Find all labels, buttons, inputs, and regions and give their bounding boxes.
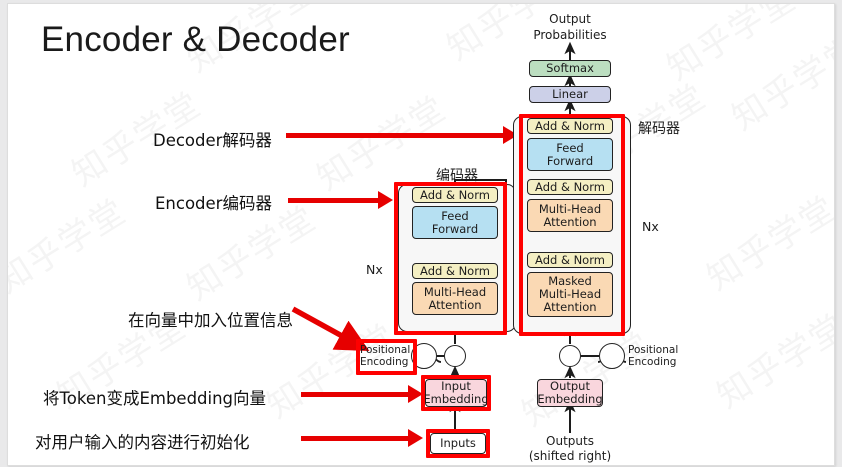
inputs-label: Inputs: [440, 437, 476, 450]
decoder-add-norm-3[interactable]: Add & Norm: [527, 118, 613, 134]
block-label: Masked Multi-Head Attention: [539, 275, 601, 314]
softmax-block[interactable]: Softmax: [529, 60, 611, 77]
decoder-add-norm-2[interactable]: Add & Norm: [527, 179, 613, 195]
encoder-add-norm-1[interactable]: Add & Norm: [412, 263, 498, 279]
slide-canvas: 知乎学堂 知乎学堂 知乎学堂 知乎学堂 知乎学堂 知乎学堂 知乎学堂 知乎学堂 …: [7, 3, 835, 466]
annotation-label-inputs: 对用户输入的内容进行初始化: [35, 429, 250, 453]
block-label: Add & Norm: [535, 254, 605, 267]
annotation-label-encoder: Encoder编码器: [155, 190, 272, 214]
encoder-multi-head-attention[interactable]: Multi-Head Attention: [412, 282, 498, 315]
output-embedding-block[interactable]: Output Embedding: [537, 379, 603, 407]
annotation-label-posenc: 在向量中加入位置信息: [128, 307, 293, 331]
encoder-cn-label: 编码器: [404, 165, 510, 185]
posenc-right-line2: Encoding: [628, 356, 690, 368]
decoder-feed-forward[interactable]: Feed Forward: [527, 138, 613, 171]
inputs-block[interactable]: Inputs: [430, 433, 486, 454]
posenc-left-line2: Encoding: [360, 356, 410, 368]
outputs-label-line1: Outputs: [530, 434, 610, 448]
watermark: 知乎学堂: [7, 185, 134, 303]
decoder-multi-head-attention[interactable]: Multi-Head Attention: [527, 199, 613, 232]
sine-circle-left: [411, 343, 437, 369]
annotation-arrow-encoder: [288, 191, 393, 209]
positional-encoding-right: Positional Encoding: [628, 344, 690, 369]
decoder-add-norm-1[interactable]: Add & Norm: [527, 252, 613, 268]
decoder-nx-label: Nx: [642, 219, 659, 234]
decoder-masked-multi-head-attention[interactable]: Masked Multi-Head Attention: [527, 272, 613, 317]
block-label: Add & Norm: [535, 120, 605, 133]
block-label: Feed Forward: [432, 210, 478, 236]
input-embedding-block[interactable]: Input Embedding: [425, 379, 487, 407]
linear-label: Linear: [552, 88, 588, 101]
posenc-right-line1: Positional: [628, 344, 690, 356]
output-probabilities-line2: Probabilities: [520, 28, 620, 42]
watermark: 知乎学堂: [721, 22, 835, 140]
posenc-left-line1: Positional: [360, 344, 410, 356]
block-label: Output Embedding: [537, 380, 602, 406]
outputs-label-line2: (shifted right): [518, 449, 622, 463]
encoder-nx-label: Nx: [366, 262, 383, 277]
block-label: Input Embedding: [423, 380, 488, 406]
block-label: Add & Norm: [420, 189, 490, 202]
annotation-arrow-posenc: [291, 304, 371, 354]
encoder-add-norm-2[interactable]: Add & Norm: [412, 187, 498, 203]
softmax-label: Softmax: [546, 62, 594, 75]
block-label: Multi-Head Attention: [539, 203, 601, 229]
watermark: 知乎学堂: [706, 300, 835, 418]
annotation-arrow-embedding: [301, 385, 423, 403]
annotation-arrow-decoder: [286, 126, 518, 144]
annotation-label-embedding: 将Token变成Embedding向量: [43, 385, 266, 409]
block-label: Add & Norm: [420, 265, 490, 278]
plus-circle-right: [559, 345, 581, 367]
watermark: 知乎学堂: [511, 318, 659, 436]
decoder-cn-label: 解码器: [638, 118, 698, 138]
block-label: Add & Norm: [535, 181, 605, 194]
watermark: 知乎学堂: [656, 3, 804, 89]
sine-circle-right: [599, 343, 625, 369]
annotation-label-decoder: Decoder解码器: [153, 127, 272, 151]
output-probabilities-line1: Output: [530, 12, 610, 26]
annotation-arrow-inputs: [301, 429, 423, 447]
block-label: Feed Forward: [547, 142, 593, 168]
watermark: 知乎学堂: [696, 182, 835, 300]
linear-block[interactable]: Linear: [529, 86, 611, 103]
positional-encoding-left: Positional Encoding: [360, 344, 410, 369]
encoder-feed-forward[interactable]: Feed Forward: [412, 206, 498, 239]
page-title: Encoder & Decoder: [41, 20, 350, 60]
plus-circle-left: [444, 345, 466, 367]
block-label: Multi-Head Attention: [424, 286, 486, 312]
